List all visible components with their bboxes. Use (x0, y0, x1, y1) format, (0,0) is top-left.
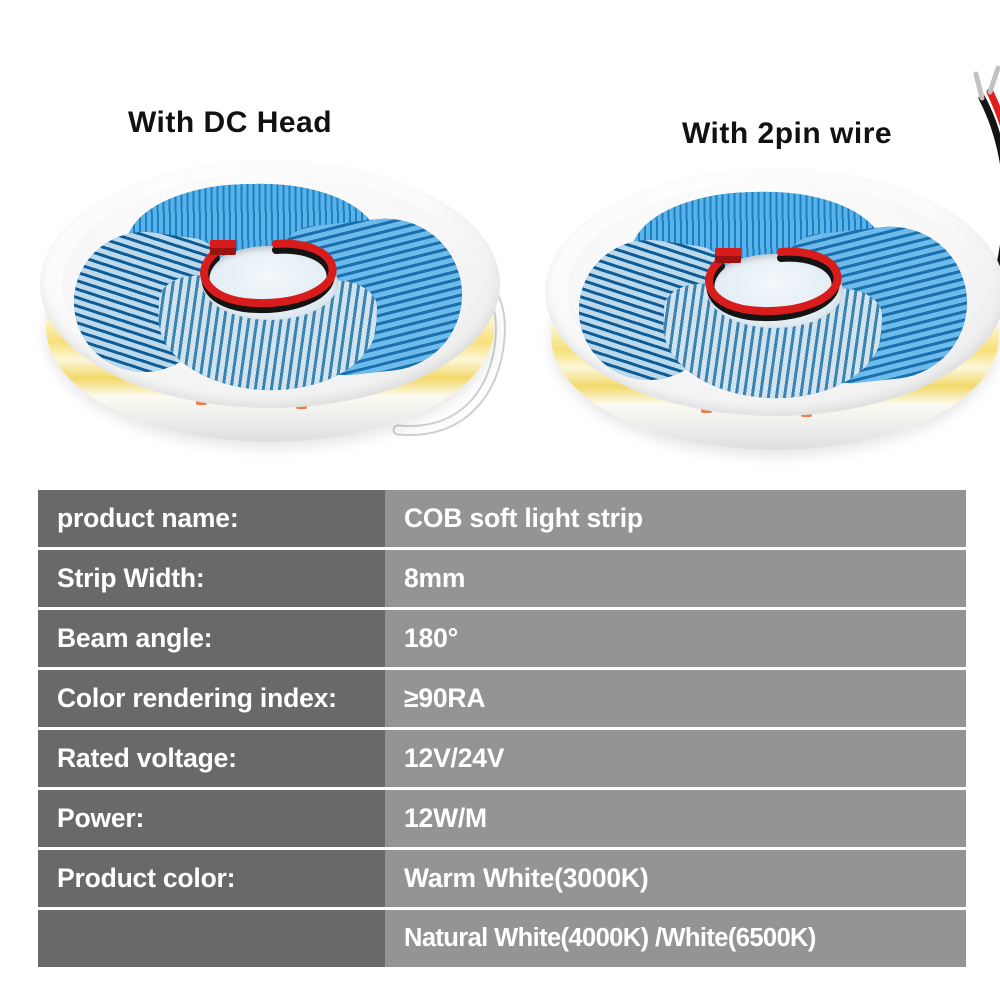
spec-label-text: Strip Width: (57, 563, 205, 594)
table-row: Natural White(4000K) /White(6500K) (38, 910, 966, 967)
table-row: Power: 12W/M (38, 790, 966, 847)
spec-label-cell-empty (38, 910, 385, 967)
spec-value-cell: 8mm (385, 550, 966, 607)
spec-label-cell: Power: (38, 790, 385, 847)
spec-label-cell: Beam angle: (38, 610, 385, 667)
power-wire-loop-icon (190, 236, 354, 320)
table-row: product name: COB soft light strip (38, 490, 966, 547)
spec-value-text: 8mm (404, 563, 465, 594)
spec-value-cell: 180° (385, 610, 966, 667)
spec-label-cell: Strip Width: (38, 550, 385, 607)
spec-label-cell: product name: (38, 490, 385, 547)
spec-value-text: COB soft light strip (404, 503, 643, 534)
spec-value-cell: 12W/M (385, 790, 966, 847)
spec-label-text: product name: (57, 503, 238, 534)
spec-value-text: 180° (404, 623, 458, 654)
spec-value-cell: ≥90RA (385, 670, 966, 727)
reel-flange (40, 160, 500, 408)
spec-label-cell: Color rendering index: (38, 670, 385, 727)
variant-label-2pin-wire: With 2pin wire (682, 117, 892, 151)
spec-value-cell: Natural White(4000K) /White(6500K) (385, 910, 966, 967)
spec-value-cell: COB soft light strip (385, 490, 966, 547)
power-wire-loop-icon (695, 244, 859, 328)
spec-value-cell: Warm White(3000K) (385, 850, 966, 907)
variant-label-dc-head: With DC Head (128, 106, 332, 140)
specification-table: product name: COB soft light strip Strip… (38, 490, 966, 967)
table-row: Product color: Warm White(3000K) (38, 850, 966, 907)
table-row: Color rendering index: ≥90RA (38, 670, 966, 727)
spec-label-text: Beam angle: (57, 623, 212, 654)
led-strip-reel-dc-head (40, 160, 500, 460)
product-photo-area: With DC Head (0, 0, 1000, 470)
spec-label-text: Color rendering index: (57, 683, 337, 714)
spec-value-cell: 12V/24V (385, 730, 966, 787)
spec-value-text: ≥90RA (404, 683, 485, 714)
table-row: Beam angle: 180° (38, 610, 966, 667)
table-row: Rated voltage: 12V/24V (38, 730, 966, 787)
spec-label-cell: Rated voltage: (38, 730, 385, 787)
spec-value-text: 12V/24V (404, 743, 504, 774)
spec-label-cell: Product color: (38, 850, 385, 907)
table-row: Strip Width: 8mm (38, 550, 966, 607)
spec-value-text: 12W/M (404, 803, 487, 834)
spec-label-text: Power: (57, 803, 144, 834)
spec-label-text: Product color: (57, 863, 235, 894)
spec-value-text: Warm White(3000K) (404, 863, 648, 894)
spec-label-text: Rated voltage: (57, 743, 237, 774)
led-strip-reel-2pin-wire (545, 168, 1000, 468)
spec-value-text: Natural White(4000K) /White(6500K) (404, 924, 816, 953)
reel-flange (545, 168, 1000, 416)
